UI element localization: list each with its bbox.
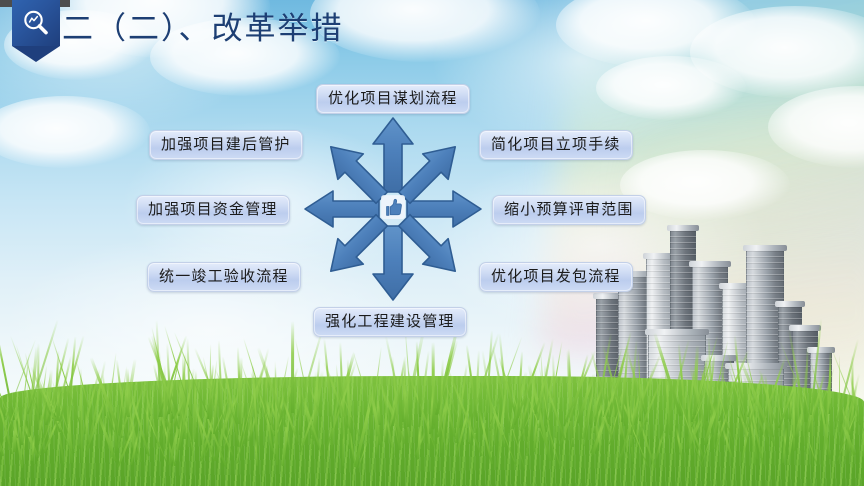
- thumbs-up-icon: [381, 195, 405, 219]
- chip-top-left[interactable]: 加强项目建后管护: [149, 130, 303, 160]
- chip-bottom-left[interactable]: 统一竣工验收流程: [147, 262, 301, 292]
- chip-top-right[interactable]: 简化项目立项手续: [479, 130, 633, 160]
- chip-right[interactable]: 缩小预算评审范围: [492, 195, 646, 225]
- slide-canvas: 优化项目谋划流程加强项目建后管护简化项目立项手续加强项目资金管理缩小预算评审范围…: [0, 0, 864, 486]
- chip-bottom[interactable]: 强化工程建设管理: [313, 307, 467, 337]
- chip-bottom-right[interactable]: 优化项目发包流程: [479, 262, 633, 292]
- chip-left[interactable]: 加强项目资金管理: [136, 195, 290, 225]
- cityscape-illustration: [596, 216, 856, 426]
- radial-arrow-diagram: [303, 116, 483, 302]
- arrow-down: [373, 226, 413, 300]
- arrow-up: [373, 118, 413, 192]
- arrow-right: [407, 191, 481, 227]
- ribbon-badge: [12, 0, 60, 46]
- arrow-left: [305, 191, 379, 227]
- magnifier-chart-icon: [21, 8, 51, 38]
- page-title: 二（二）、改革举措: [62, 9, 344, 49]
- chip-top[interactable]: 优化项目谋划流程: [316, 84, 470, 114]
